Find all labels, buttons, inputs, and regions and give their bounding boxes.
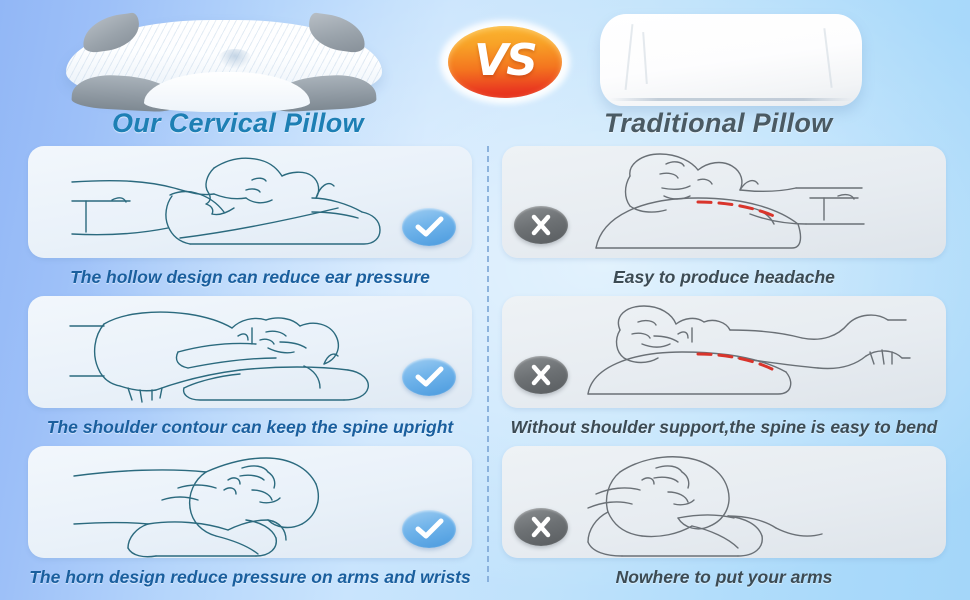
header: VS Our Cervical Pillow Traditional Pillo… [0, 0, 970, 145]
cervical-pillow-photo [66, 6, 382, 108]
comparison-row: The horn design reduce pressure on arms … [0, 446, 970, 600]
vs-ellipse: VS [448, 26, 562, 98]
check-badge [402, 208, 456, 246]
side-sleeper-no-support-drawing [502, 296, 946, 408]
pillow-fold [642, 32, 647, 84]
column-title-traditional: Traditional Pillow [604, 108, 832, 139]
cell-traditional-3: Nowhere to put your arms [502, 446, 946, 596]
close-icon [526, 214, 556, 236]
illustration-panel-traditional-1 [502, 146, 946, 258]
caption-ours-2: The shoulder contour can keep the spine … [28, 408, 472, 446]
cell-ours-1: The hollow design can reduce ear pressur… [28, 146, 472, 296]
check-badge [402, 358, 456, 396]
caption-ours-3: The horn design reduce pressure on arms … [28, 558, 472, 596]
pillow-fold [625, 24, 633, 90]
cell-traditional-2: Without shoulder support,the spine is ea… [502, 296, 946, 446]
vs-badge: VS [440, 20, 570, 104]
illustration-panel-ours-3 [28, 446, 472, 558]
close-icon [526, 364, 556, 386]
cross-badge [514, 508, 568, 546]
back-sleeper-on-contour-pillow-drawing [28, 146, 472, 258]
comparison-row: The shoulder contour can keep the spine … [0, 296, 970, 446]
side-sleeper-cramped-arms-drawing [502, 446, 946, 558]
cell-ours-2: The shoulder contour can keep the spine … [28, 296, 472, 446]
illustration-panel-ours-2 [28, 296, 472, 408]
cell-ours-3: The horn design reduce pressure on arms … [28, 446, 472, 596]
pillow-fold [823, 28, 832, 88]
caption-traditional-3: Nowhere to put your arms [502, 558, 946, 596]
illustration-panel-traditional-3 [502, 446, 946, 558]
illustration-panel-ours-1 [28, 146, 472, 258]
cross-badge [514, 356, 568, 394]
check-icon [414, 216, 444, 238]
caption-traditional-1: Easy to produce headache [502, 258, 946, 296]
traditional-pillow-photo [600, 14, 862, 106]
comparison-row: The hollow design can reduce ear pressur… [0, 146, 970, 296]
check-icon [414, 366, 444, 388]
cross-badge [514, 206, 568, 244]
red-dashed-spine-line [698, 202, 778, 218]
close-icon [526, 516, 556, 538]
back-sleeper-flat-pillow-drawing [502, 146, 946, 258]
comparison-infographic: VS Our Cervical Pillow Traditional Pillo… [0, 0, 970, 600]
vs-label: VS [474, 39, 536, 83]
caption-ours-1: The hollow design can reduce ear pressur… [28, 258, 472, 296]
side-sleeper-shoulder-cutout-drawing [28, 296, 472, 408]
illustration-panel-traditional-2 [502, 296, 946, 408]
column-title-ours: Our Cervical Pillow [112, 108, 364, 139]
center-dimple [218, 49, 252, 69]
comparison-grid: The hollow design can reduce ear pressur… [0, 146, 970, 600]
check-badge [402, 510, 456, 548]
pillow-seam [610, 98, 852, 101]
caption-traditional-2: Without shoulder support,the spine is ea… [502, 408, 946, 446]
check-icon [414, 518, 444, 540]
cell-traditional-1: Easy to produce headache [502, 146, 946, 296]
side-sleeper-horn-wing-drawing [28, 446, 472, 558]
